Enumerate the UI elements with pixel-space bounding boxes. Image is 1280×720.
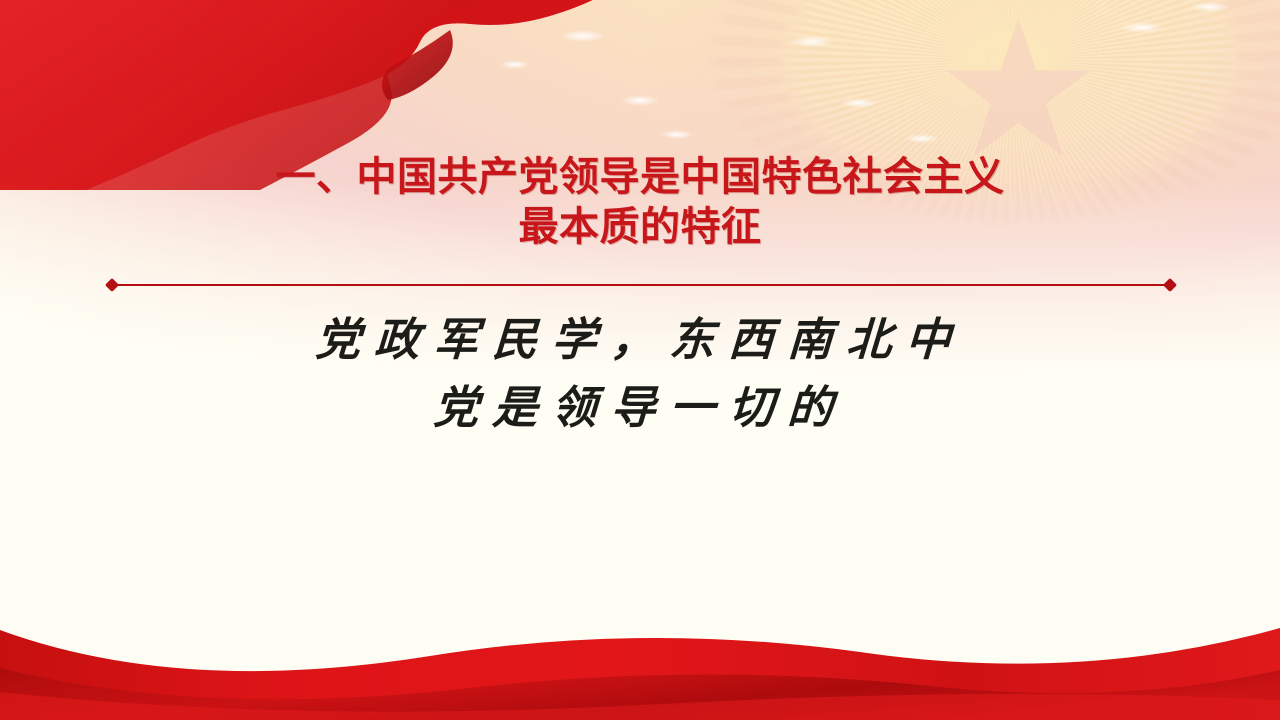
quote-line-1: 党政军民学，东西南北中 (0, 306, 1280, 374)
quote-block: 党政军民学，东西南北中 党是领导一切的 (0, 306, 1280, 442)
slide-canvas: 一、中国共产党领导是中国特色社会主义 最本质的特征 党政军民学，东西南北中 党是… (0, 0, 1280, 720)
title-line-1: 一、中国共产党领导是中国特色社会主义 (0, 152, 1280, 202)
background-bottom-fade (0, 180, 1280, 720)
divider-bar (113, 284, 1169, 286)
section-divider (107, 283, 1175, 286)
page-title: 一、中国共产党领导是中国特色社会主义 最本质的特征 (0, 152, 1280, 252)
quote-line-2: 党是领导一切的 (0, 374, 1280, 442)
title-line-2: 最本质的特征 (0, 202, 1280, 252)
